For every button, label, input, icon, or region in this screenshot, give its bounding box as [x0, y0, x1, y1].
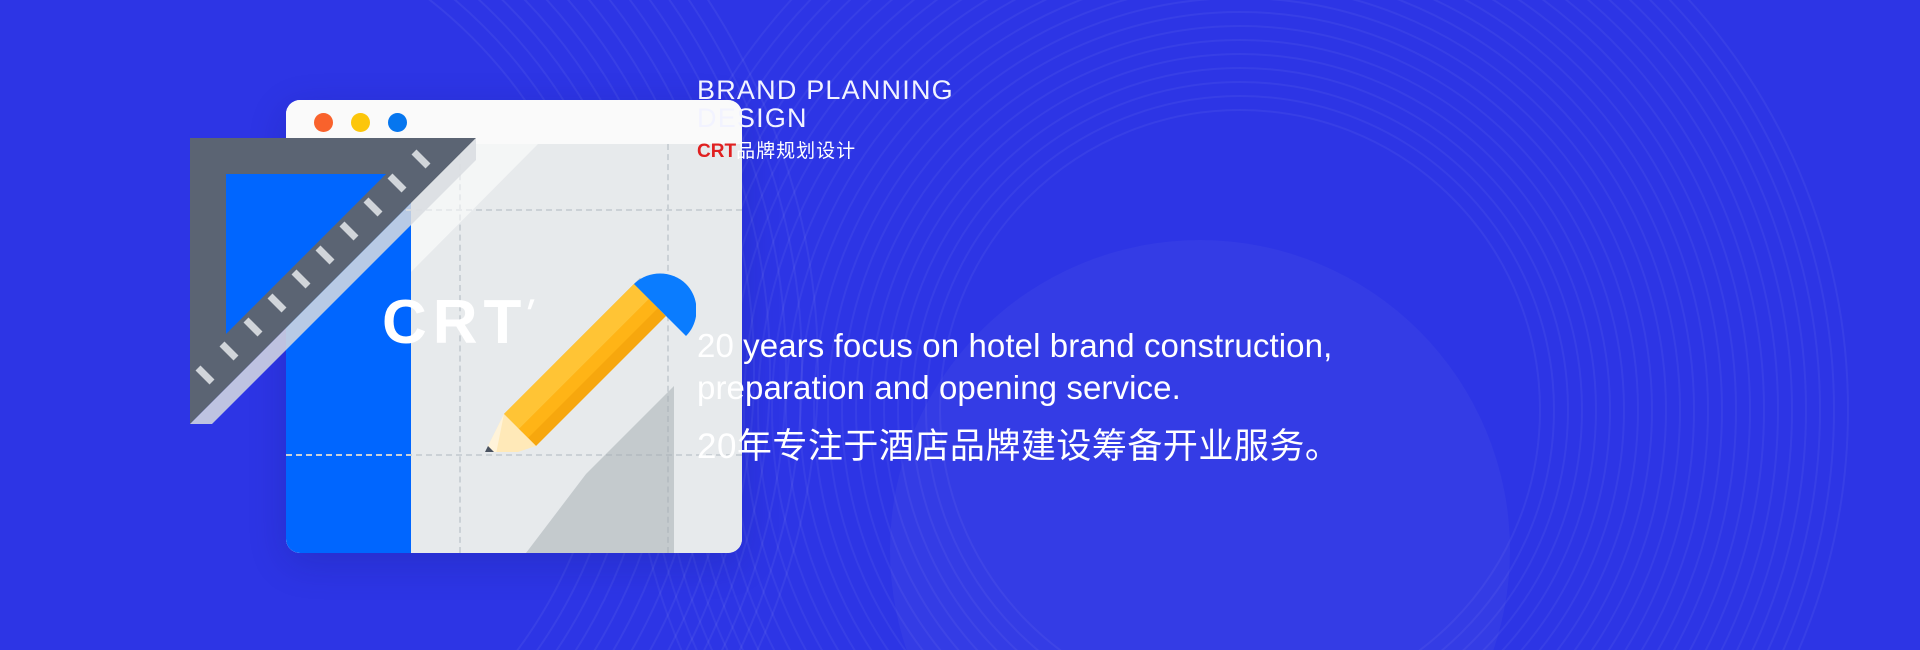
- eyebrow-line-2: DESIGN: [697, 104, 1337, 132]
- maximize-dot-icon: [388, 113, 407, 132]
- close-dot-icon: [314, 113, 333, 132]
- headline-block: 20 years focus on hotel brand constructi…: [697, 325, 1457, 469]
- pencil-icon: [466, 222, 696, 452]
- promo-banner: CRT': [0, 0, 1920, 650]
- eyebrow-chinese: CRT品牌规划设计: [697, 141, 1337, 163]
- eyebrow-chinese-text: 品牌规划设计: [736, 141, 856, 162]
- eyebrow-block: BRAND PLANNING DESIGN CRT品牌规划设计: [697, 76, 1337, 163]
- brand-name: CRT: [697, 141, 736, 162]
- headline-english-line-2: preparation and opening service.: [697, 367, 1457, 409]
- headline-english-line-1: 20 years focus on hotel brand constructi…: [697, 325, 1457, 367]
- headline-chinese: 20年专注于酒店品牌建设筹备开业服务。: [697, 425, 1457, 469]
- triangle-ruler-icon: [190, 138, 476, 424]
- minimize-dot-icon: [351, 113, 370, 132]
- eyebrow-line-1: BRAND PLANNING: [697, 76, 1337, 104]
- banner-copy: BRAND PLANNING DESIGN CRT品牌规划设计 20 years…: [697, 0, 1817, 650]
